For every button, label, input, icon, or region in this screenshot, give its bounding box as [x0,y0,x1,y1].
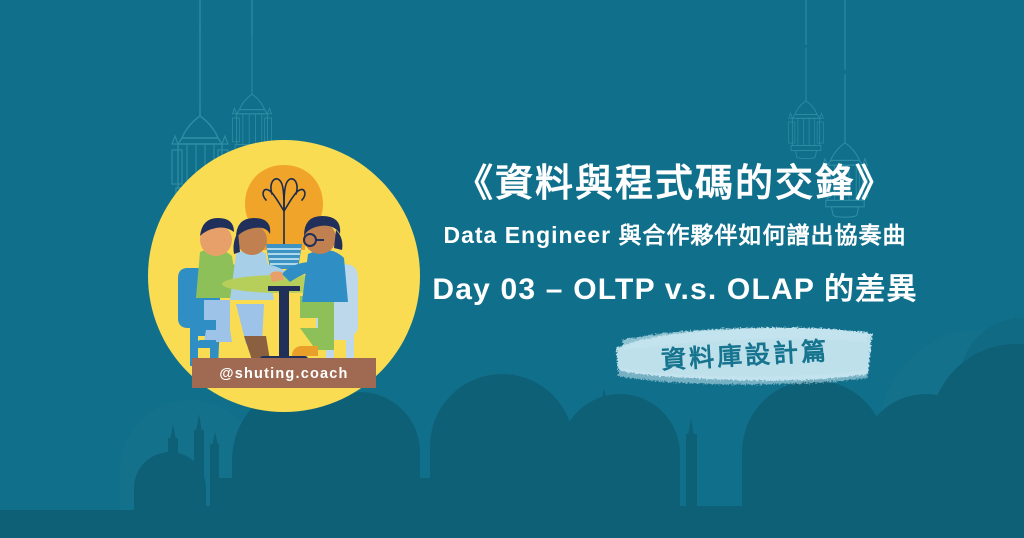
handle-text: @shuting.coach [219,366,348,382]
series-badge: 資料庫設計篇 [610,318,880,390]
banner-canvas: @shuting.coach 《資料與程式碼的交鋒》 Data Engineer… [0,0,1024,538]
episode-title: Day 03 – OLTP v.s. OLAP 的差異 [420,272,930,308]
illustration-circle: @shuting.coach [148,140,420,412]
page-title: 《資料與程式碼的交鋒》 [420,164,930,206]
page-subtitle: Data Engineer 與合作夥伴如何譜出協奏曲 [420,222,930,250]
badge-label: 資料庫設計篇 [608,311,882,398]
people-meeting-illustration: @shuting.coach [148,140,420,412]
